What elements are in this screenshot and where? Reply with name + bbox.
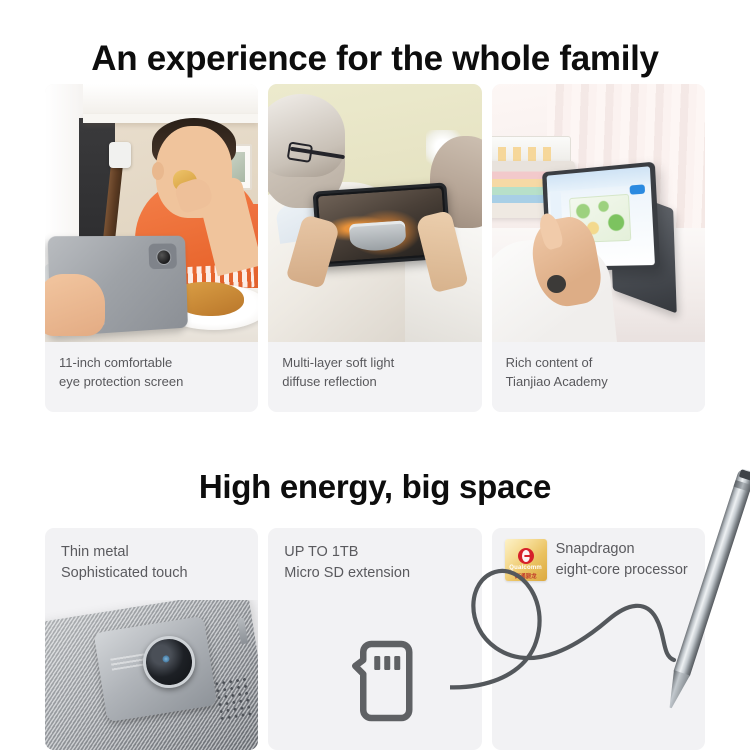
section-performance-heading: High energy, big space <box>0 470 750 503</box>
caption-line-2: eye protection screen <box>59 373 244 392</box>
family-feature-row: 11-inch comfortable eye protection scree… <box>45 84 705 412</box>
spec-line-2: eight-core processor <box>556 560 688 581</box>
feature-card-soft-light[interactable]: Multi-layer soft light diffuse reflectio… <box>268 84 481 412</box>
photo-boy-tablet <box>45 84 258 342</box>
qualcomm-wordmark: Qualcomm <box>505 565 547 571</box>
spec-card-thin-metal[interactable]: Thin metal Sophisticated touch <box>45 528 258 750</box>
feature-card-eye-protection[interactable]: 11-inch comfortable eye protection scree… <box>45 84 258 412</box>
caption-line-2: Tianjiao Academy <box>506 373 691 392</box>
spec-line-1: Snapdragon <box>556 539 688 560</box>
caption-line-1: 11-inch comfortable <box>59 354 244 373</box>
section-family-heading: An experience for the whole family <box>0 41 750 76</box>
spec-line-2: Sophisticated touch <box>61 563 188 584</box>
feature-caption: Rich content of Tianjiao Academy <box>492 342 705 412</box>
performance-spec-row: Thin metal Sophisticated touch UP TO 1TB… <box>45 528 705 750</box>
photo-child-learning-tablet <box>492 84 705 342</box>
qualcomm-logo-icon: Qualcomm 高通骁龙 <box>505 539 547 581</box>
spec-label: Snapdragon eight-core processor <box>556 539 688 580</box>
metal-tablet-photo <box>45 600 258 750</box>
spec-line-2: Micro SD extension <box>284 563 410 584</box>
snapdragon-s-mark-icon <box>518 548 534 564</box>
feature-caption: Multi-layer soft light diffuse reflectio… <box>268 342 481 412</box>
spec-label: Thin metal Sophisticated touch <box>61 542 188 583</box>
product-detail-page: An experience for the whole family <box>0 0 750 750</box>
qualcomm-wordmark-cn: 高通骁龙 <box>505 572 547 580</box>
spec-line-1: UP TO 1TB <box>284 542 410 563</box>
qualcomm-header: Qualcomm 高通骁龙 Snapdragon eight-core proc… <box>505 539 688 581</box>
spec-card-storage[interactable]: UP TO 1TB Micro SD extension <box>268 528 481 750</box>
feature-card-tianjiao-academy[interactable]: Rich content of Tianjiao Academy <box>492 84 705 412</box>
spec-label: UP TO 1TB Micro SD extension <box>284 542 410 583</box>
spec-card-processor[interactable]: Qualcomm 高通骁龙 Snapdragon eight-core proc… <box>492 528 705 750</box>
caption-line-1: Multi-layer soft light <box>282 354 467 373</box>
photo-elderly-couple-tablet <box>268 84 481 342</box>
micro-sd-icon <box>351 640 417 729</box>
caption-line-2: diffuse reflection <box>282 373 467 392</box>
caption-line-1: Rich content of <box>506 354 691 373</box>
feature-caption: 11-inch comfortable eye protection scree… <box>45 342 258 412</box>
spec-line-1: Thin metal <box>61 542 188 563</box>
